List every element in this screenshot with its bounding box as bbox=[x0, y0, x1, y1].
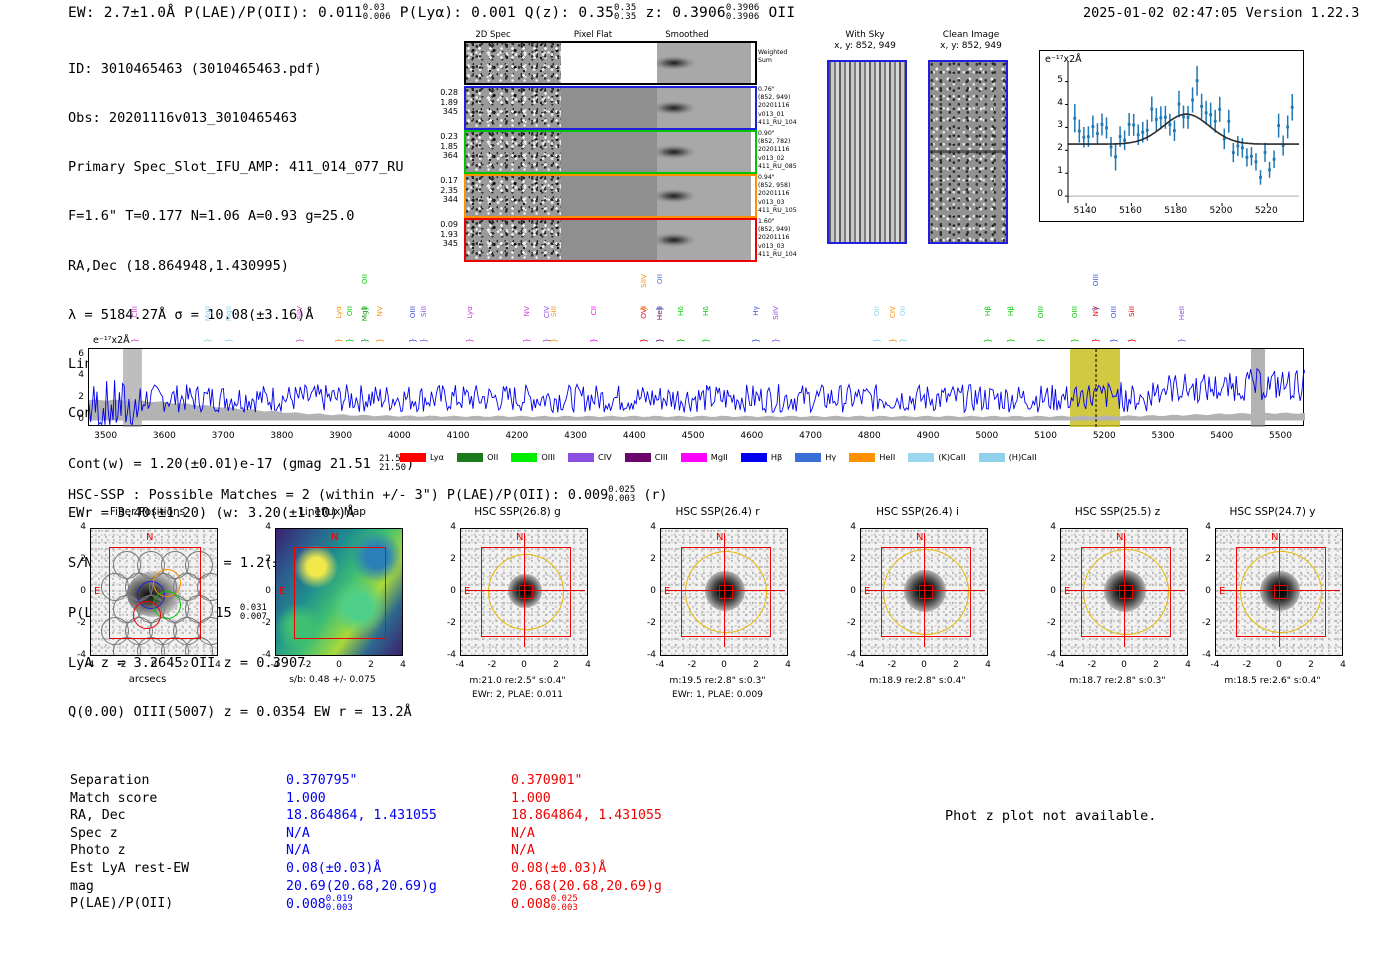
legend-swatch bbox=[457, 453, 483, 462]
spectrum-line-bracket: } bbox=[345, 338, 354, 343]
imaging-xtick: 0 bbox=[142, 660, 166, 670]
table-row: Separation bbox=[70, 772, 189, 790]
match-table-labels: Separation Match score RA, Dec Spec z Ph… bbox=[70, 772, 189, 913]
spectrum-line-label: MgII bbox=[203, 306, 212, 321]
legend-label: Hγ bbox=[825, 452, 836, 462]
compass-east: E bbox=[94, 586, 100, 597]
spectrum-line-bracket: } bbox=[224, 338, 233, 343]
imaging-xtick: 0 bbox=[912, 660, 936, 670]
sp-xtick: 3700 bbox=[201, 431, 245, 441]
legend-label: (H)CaII bbox=[1009, 452, 1037, 462]
lp-ytick: 5 bbox=[1049, 75, 1063, 85]
spectrum-line-bracket: } bbox=[639, 306, 648, 311]
imaging-xtick: -4 bbox=[78, 660, 102, 670]
sp-xtick: 4500 bbox=[671, 431, 715, 441]
fiber2-2dspec-image bbox=[466, 132, 561, 172]
hsc-header: HSC-SSP : Possible Matches = 2 (within +… bbox=[68, 486, 668, 504]
imaging-panel-axes bbox=[1060, 528, 1188, 656]
spectrum-line-bracket: } bbox=[360, 338, 369, 343]
crosshair-vertical bbox=[724, 533, 725, 647]
line-profile-chart: e⁻¹⁷x2Å bbox=[1039, 50, 1304, 222]
lp-ytick: 2 bbox=[1049, 143, 1063, 153]
spectrum-line-label: SiII bbox=[549, 306, 558, 317]
imaging-caption-1: m:18.5 re:2.6" s:0.4" bbox=[1185, 675, 1360, 686]
spectrum-line-bracket: } bbox=[465, 338, 474, 343]
imaging-xtick: -2 bbox=[480, 660, 504, 670]
imaging-panel-0: Fiber PositionsNE-4-2024420-2-4arcsecs bbox=[60, 506, 235, 706]
hsc-header-tail: (r) bbox=[643, 488, 667, 503]
aperture-box bbox=[109, 547, 201, 639]
spec2d-fiber-strip-2 bbox=[464, 130, 757, 174]
fiber1-left-labels: 0.281.89345 bbox=[418, 88, 458, 117]
spectrum-line-bracket: } bbox=[872, 338, 881, 343]
target-marker-box bbox=[919, 585, 933, 599]
spectrum-line-bracket: } bbox=[375, 338, 384, 343]
imaging-ytick: -4 bbox=[1193, 650, 1211, 660]
spec2d-panel: 2D Spec Pixel Flat Smoothed WeightedSum … bbox=[420, 30, 760, 245]
imaging-ytick: -4 bbox=[68, 650, 86, 660]
spectrum-legend-item: MgII bbox=[681, 452, 728, 462]
full-spectrum-chart: e⁻¹⁷x2Å bbox=[88, 348, 1304, 426]
imaging-xtick: 4 bbox=[1331, 660, 1355, 670]
compass-east: E bbox=[664, 586, 670, 597]
imaging-xtick: -2 bbox=[1235, 660, 1259, 670]
imaging-xtick: 0 bbox=[1267, 660, 1291, 670]
sp-ytick: 0 bbox=[72, 414, 84, 424]
compass-north: N bbox=[331, 532, 338, 543]
spectrum-line-label: Hγ bbox=[751, 306, 760, 316]
sp-ytick: 4 bbox=[72, 370, 84, 380]
imaging-panel-title: HSC SSP(26.8) g bbox=[430, 506, 605, 518]
imaging-ytick: -2 bbox=[838, 618, 856, 628]
spectrum-line-bracket: } bbox=[1177, 338, 1186, 343]
imaging-xtick: 2 bbox=[1299, 660, 1323, 670]
imaging-panel-2: HSC SSP(26.8) gNE-4-2024420-2-4m:21.0 re… bbox=[430, 506, 605, 706]
compass-north: N bbox=[1271, 532, 1278, 543]
imaging-xtick: 4 bbox=[206, 660, 230, 670]
fiber3-smoothed-image bbox=[657, 176, 751, 216]
spectrum-legend-item: Lyα bbox=[400, 452, 444, 462]
spectrum-line-label: Lyα bbox=[465, 306, 474, 319]
spectrum-line-bracket: } bbox=[1006, 338, 1015, 343]
imaging-xtick: 2 bbox=[174, 660, 198, 670]
weighted-pixelflat-image bbox=[561, 43, 657, 83]
imaging-ytick: 2 bbox=[253, 554, 271, 564]
spectrum-legend-item: (H)CaII bbox=[979, 452, 1037, 462]
compass-north: N bbox=[1116, 532, 1123, 543]
spec2d-fiber-strip-4 bbox=[464, 218, 757, 262]
spectrum-line-label: OII bbox=[655, 274, 664, 284]
imaging-ytick: -4 bbox=[638, 650, 656, 660]
sp-ytick: 2 bbox=[72, 392, 84, 402]
table-row: 0.0080.0250.003 bbox=[511, 895, 662, 914]
spectrum-line-label: SiII bbox=[419, 306, 428, 317]
imaging-caption-1: m:18.7 re:2.8" s:0.3" bbox=[1030, 675, 1205, 686]
sp-xtick: 5400 bbox=[1200, 431, 1244, 441]
spectrum-line-label: SiIV bbox=[771, 306, 780, 320]
fiber4-pixelflat-image bbox=[561, 220, 657, 260]
table-row: P(LAE)/P(OII) bbox=[70, 895, 189, 913]
crosshair-vertical bbox=[1124, 533, 1125, 647]
imaging-xtick: 2 bbox=[944, 660, 968, 670]
imaging-panel-3: HSC SSP(26.4) rNE-4-2024420-2-4m:19.5 re… bbox=[630, 506, 805, 706]
imaging-panel-title: Fiber Positions bbox=[60, 506, 235, 518]
weighted-smoothed-image bbox=[657, 43, 751, 83]
spectrum-line-label: HeII bbox=[1177, 306, 1186, 320]
spectrum-legend-item: OIII bbox=[511, 452, 555, 462]
fiber3-2dspec-image bbox=[466, 176, 561, 216]
imaging-ytick: 0 bbox=[638, 586, 656, 596]
col2-plae-frac: 0.0250.003 bbox=[551, 895, 578, 913]
imaging-xtick: -4 bbox=[263, 660, 287, 670]
lp-ytick: 0 bbox=[1049, 189, 1063, 199]
clean-image-title: Clean Image x, y: 852, 949 bbox=[925, 30, 1017, 52]
spectrum-line-label: Hδ bbox=[676, 306, 685, 316]
legend-swatch bbox=[511, 453, 537, 462]
header-qz-frac: 0.350.35 bbox=[614, 4, 636, 22]
lp-ytick: 3 bbox=[1049, 120, 1063, 130]
sp-xtick: 4400 bbox=[612, 431, 656, 441]
fiber3-left-labels: 0.172.35344 bbox=[418, 176, 458, 205]
spec2d-col-title-smoothed: Smoothed bbox=[642, 30, 732, 40]
fiber2-smoothed-image bbox=[657, 132, 751, 172]
imaging-panel-6: HSC SSP(24.7) yNE-4-2024420-2-4m:18.5 re… bbox=[1185, 506, 1360, 706]
info-line-slot: Primary Spec_Slot_IFU_AMP: 411_014_077_R… bbox=[68, 159, 414, 175]
table-row: Est LyA rest-EW bbox=[70, 860, 189, 878]
fiber4-meta: 1.60"(852, 949)20201116v013_03411_RU_104 bbox=[758, 218, 797, 259]
spec2d-fiber-strip-3 bbox=[464, 174, 757, 218]
spectrum-line-label: CII bbox=[589, 306, 598, 315]
table-row: 0.08(±0.03)Å bbox=[286, 860, 437, 878]
sp-xtick: 3800 bbox=[260, 431, 304, 441]
legend-label: MgII bbox=[711, 452, 728, 462]
imaging-ytick: 2 bbox=[1038, 554, 1056, 564]
fiber4-left-labels: 0.091.93345 bbox=[418, 220, 458, 249]
imaging-ytick: 4 bbox=[253, 522, 271, 532]
header-summary-text: EW: 2.7±1.0Å P(LAE)/P(OII): 0.011 bbox=[68, 5, 363, 21]
spectrum-legend-item: OII bbox=[457, 452, 498, 462]
imaging-ytick: 0 bbox=[1193, 586, 1211, 596]
legend-label: HeII bbox=[879, 452, 895, 462]
fiber2-meta: 0.90"(852, 782)20201116v013_02411_RU_085 bbox=[758, 130, 797, 171]
compass-north: N bbox=[146, 532, 153, 543]
legend-label: CIII bbox=[655, 452, 668, 462]
crosshair-vertical bbox=[524, 533, 525, 647]
with-sky-image bbox=[827, 60, 907, 244]
sp-xtick: 4000 bbox=[377, 431, 421, 441]
spectrum-line-label: Hβ bbox=[1006, 306, 1015, 316]
spectrum-line-label: OIII bbox=[408, 306, 417, 318]
imaging-panel-1: Lineflux MapNE-4-2024420-2-4s/b: 0.48 +/… bbox=[245, 506, 420, 706]
imaging-ytick: 4 bbox=[68, 522, 86, 532]
match-table-col1: 0.370795" 1.000 18.864864, 1.431055 N/A … bbox=[286, 772, 437, 914]
legend-swatch bbox=[625, 453, 651, 462]
spectrum-line-label: SiII bbox=[1127, 306, 1136, 317]
spectrum-line-bracket: } bbox=[701, 338, 710, 343]
compass-east: E bbox=[464, 586, 470, 597]
table-row: 0.370795" bbox=[286, 772, 437, 790]
imaging-ytick: 2 bbox=[638, 554, 656, 564]
spectrum-line-label: MgII bbox=[224, 306, 233, 321]
imaging-panel-4: HSC SSP(26.4) iNE-4-2024420-2-4m:18.9 re… bbox=[830, 506, 1005, 706]
header-summary-mid: P(Lyα): 0.001 Q(z): 0.35 bbox=[400, 5, 614, 21]
fiber1-2dspec-image bbox=[466, 88, 561, 128]
spectrum-line-bracket: } bbox=[1127, 338, 1136, 343]
timestamp-text: 2025-01-02 02:47:05 bbox=[1083, 5, 1237, 21]
imaging-panel-axes bbox=[460, 528, 588, 656]
table-row: 18.864864, 1.431055 bbox=[286, 807, 437, 825]
spectrum-legend-item: CIII bbox=[625, 452, 668, 462]
table-row: N/A bbox=[511, 842, 662, 860]
spectrum-legend-item: (K)CaII bbox=[908, 452, 965, 462]
imaging-ytick: -2 bbox=[438, 618, 456, 628]
imaging-xtick: -4 bbox=[848, 660, 872, 670]
spectrum-line-bracket: } bbox=[1091, 338, 1100, 343]
spectrum-line-label: Hδ bbox=[701, 306, 710, 316]
imaging-panel-title: HSC SSP(26.4) r bbox=[630, 506, 805, 518]
header-plae-frac: 0.030.006 bbox=[363, 4, 391, 22]
sp-xtick: 5000 bbox=[965, 431, 1009, 441]
spectrum-line-label: OIII bbox=[1036, 306, 1045, 318]
imaging-xtick: 4 bbox=[576, 660, 600, 670]
legend-label: OIII bbox=[541, 452, 555, 462]
spec2d-col-title-pixelflat: Pixel Flat bbox=[548, 30, 638, 40]
imaging-ytick: 0 bbox=[838, 586, 856, 596]
info-line-id: ID: 3010465463 (3010465463.pdf) bbox=[68, 61, 414, 77]
spectrum-legend-item: CIV bbox=[568, 452, 612, 462]
clean-image-image bbox=[928, 60, 1008, 244]
table-row: 20.68(20.68,20.69)g bbox=[511, 878, 662, 896]
imaging-caption-1: m:21.0 re:2.5" s:0.4" bbox=[430, 675, 605, 686]
imaging-ytick: 0 bbox=[253, 586, 271, 596]
legend-swatch bbox=[400, 453, 426, 462]
imaging-caption-1: m:19.5 re:2.8" s:0.3" bbox=[630, 675, 805, 686]
imaging-panel-title: HSC SSP(25.5) z bbox=[1030, 506, 1205, 518]
spectrum-line-bracket: } bbox=[655, 338, 664, 343]
spectrum-line-bracket: } bbox=[408, 338, 417, 343]
spectrum-line-label: OII bbox=[345, 306, 354, 316]
with-sky-title-text: With Sky bbox=[845, 30, 884, 40]
match-table-col2: 0.370901" 1.000 18.864864, 1.431055 N/A … bbox=[511, 772, 662, 914]
sp-xtick: 4200 bbox=[495, 431, 539, 441]
imaging-panel-title: HSC SSP(26.4) i bbox=[830, 506, 1005, 518]
legend-label: (K)CaII bbox=[938, 452, 965, 462]
table-row: mag bbox=[70, 878, 189, 896]
table-row: 1.000 bbox=[511, 790, 662, 808]
table-row: 0.08(±0.03)Å bbox=[511, 860, 662, 878]
table-row: 1.000 bbox=[286, 790, 437, 808]
imaging-xtick: -2 bbox=[110, 660, 134, 670]
hsc-plae-frac: 0.0250.003 bbox=[608, 486, 635, 504]
info-line-oiii: Q(0.00) OIII(5007) z = 0.0354 EW r = 13.… bbox=[68, 704, 414, 720]
table-row: N/A bbox=[286, 825, 437, 843]
table-row: 20.69(20.68,20.69)g bbox=[286, 878, 437, 896]
weighted-sum-label: WeightedSum bbox=[758, 49, 787, 65]
imaging-xlabel: arcsecs bbox=[60, 674, 235, 685]
spectrum-line-bracket: } bbox=[1109, 338, 1118, 343]
imaging-xtick: 2 bbox=[744, 660, 768, 670]
fiber2-left-labels: 0.231.85364 bbox=[418, 132, 458, 161]
compass-east: E bbox=[279, 586, 285, 597]
col1-plae-frac: 0.0190.003 bbox=[326, 895, 353, 913]
imaging-ytick: -2 bbox=[68, 618, 86, 628]
imaging-panel-axes bbox=[1215, 528, 1343, 656]
imaging-ytick: -4 bbox=[838, 650, 856, 660]
imaging-ytick: -4 bbox=[253, 650, 271, 660]
compass-east: E bbox=[864, 586, 870, 597]
info-line-contw: Cont(w) = 1.20(±0.01)e-17 (gmag 21.51 21… bbox=[68, 455, 414, 473]
lp-xtick: 5200 bbox=[1205, 206, 1237, 216]
imaging-ytick: 2 bbox=[1193, 554, 1211, 564]
legend-swatch bbox=[681, 453, 707, 462]
imaging-caption-2: EWr: 2, PLAE: 0.011 bbox=[430, 689, 605, 700]
imaging-ytick: 4 bbox=[838, 522, 856, 532]
spectrum-line-label: NV bbox=[1091, 306, 1100, 316]
imaging-caption-1: m:18.9 re:2.8" s:0.4" bbox=[830, 675, 1005, 686]
lp-ytick: 4 bbox=[1049, 98, 1063, 108]
table-row: 0.0080.0190.003 bbox=[286, 895, 437, 914]
imaging-ytick: -4 bbox=[438, 650, 456, 660]
imaging-xtick: -4 bbox=[1203, 660, 1227, 670]
spectrum-line-bracket: } bbox=[751, 338, 760, 343]
fiber1-smoothed-image bbox=[657, 88, 751, 128]
spectrum-legend-item: Hγ bbox=[795, 452, 836, 462]
spectrum-line-bracket: } bbox=[983, 338, 992, 343]
imaging-ytick: 2 bbox=[68, 554, 86, 564]
header-timestamp-version: 2025-01-02 02:47:05 Version 1.22.3 bbox=[1083, 5, 1359, 21]
imaging-ytick: 0 bbox=[438, 586, 456, 596]
compass-north: N bbox=[916, 532, 923, 543]
table-row: RA, Dec bbox=[70, 807, 189, 825]
imaging-ytick: 4 bbox=[1193, 522, 1211, 532]
imaging-panel-axes bbox=[860, 528, 988, 656]
imaging-xtick: -4 bbox=[648, 660, 672, 670]
spectrum-line-label: SiIV bbox=[295, 306, 304, 320]
info-line-obs: Obs: 20201116v013_3010465463 bbox=[68, 110, 414, 126]
clean-image-coords: x, y: 852, 949 bbox=[940, 41, 1002, 51]
target-marker-box bbox=[1274, 585, 1288, 599]
line-profile-svg bbox=[1040, 51, 1305, 223]
spectrum-line-bracket: } bbox=[1036, 338, 1045, 343]
photoz-message: Phot z plot not available. bbox=[945, 808, 1156, 824]
imaging-caption-2: EWr: 1, PLAE: 0.009 bbox=[630, 689, 805, 700]
aperture-box bbox=[294, 547, 386, 639]
spectrum-legend-item: HeII bbox=[849, 452, 895, 462]
imaging-xtick: 0 bbox=[327, 660, 351, 670]
spectrum-line-label: CIV bbox=[888, 306, 897, 318]
spectrum-svg bbox=[89, 349, 1305, 427]
info-line-params: F=1.6" T=0.177 N=1.06 A=0.93 g=25.0 bbox=[68, 208, 414, 224]
table-row: N/A bbox=[286, 842, 437, 860]
spectrum-line-bracket: } bbox=[549, 338, 558, 343]
spectrum-line-bracket: } bbox=[419, 338, 428, 343]
spectrum-line-label: OIII bbox=[1091, 274, 1100, 286]
fiber3-meta: 0.94"(852, 958)20201116v013_03411_RU_105 bbox=[758, 174, 797, 215]
imaging-xtick: 0 bbox=[1112, 660, 1136, 670]
spectrum-line-label: OII bbox=[360, 274, 369, 284]
imaging-xtick: 0 bbox=[712, 660, 736, 670]
table-row: Match score bbox=[70, 790, 189, 808]
table-row: Spec z bbox=[70, 825, 189, 843]
imaging-xtick: 4 bbox=[976, 660, 1000, 670]
compass-east: E bbox=[1064, 586, 1070, 597]
sp-xtick: 5200 bbox=[1082, 431, 1126, 441]
sp-xtick: 4300 bbox=[554, 431, 598, 441]
imaging-ytick: 0 bbox=[68, 586, 86, 596]
with-sky-title: With Sky x, y: 852, 949 bbox=[822, 30, 908, 52]
spectrum-line-bracket: } bbox=[888, 338, 897, 343]
sp-xtick: 5100 bbox=[1024, 431, 1068, 441]
legend-label: CIV bbox=[598, 452, 612, 462]
spec2d-weighted-sum-strip bbox=[464, 41, 757, 85]
spectrum-line-bracket: } bbox=[639, 338, 648, 343]
compass-north: N bbox=[516, 532, 523, 543]
compass-north: N bbox=[716, 532, 723, 543]
table-row: 18.864864, 1.431055 bbox=[511, 807, 662, 825]
sp-xtick: 4700 bbox=[789, 431, 833, 441]
spectrum-line-label: CIII bbox=[130, 306, 139, 318]
lp-xtick: 5140 bbox=[1069, 206, 1101, 216]
legend-swatch bbox=[795, 453, 821, 462]
imaging-ytick: 2 bbox=[838, 554, 856, 564]
table-row: Photo z bbox=[70, 842, 189, 860]
sp-xtick: 3600 bbox=[142, 431, 186, 441]
imaging-xtick: -4 bbox=[1048, 660, 1072, 670]
sp-xtick: 4800 bbox=[847, 431, 891, 441]
table-row: N/A bbox=[511, 825, 662, 843]
target-marker-box bbox=[1119, 585, 1133, 599]
spectrum-line-bracket: } bbox=[295, 338, 304, 343]
sp-xtick: 5500 bbox=[1259, 431, 1303, 441]
imaging-ytick: 2 bbox=[438, 554, 456, 564]
spectrum-legend-item: Hβ bbox=[741, 452, 782, 462]
spec2d-fiber-strip-1 bbox=[464, 86, 757, 130]
crosshair-vertical bbox=[1279, 533, 1280, 647]
spectrum-line-bracket: } bbox=[676, 338, 685, 343]
spectrum-line-bracket: } bbox=[130, 338, 139, 343]
legend-label: Lyα bbox=[430, 452, 444, 462]
legend-swatch bbox=[908, 453, 934, 462]
spectrum-line-bracket: } bbox=[898, 338, 907, 343]
clean-image-title-text: Clean Image bbox=[943, 30, 1000, 40]
header-summary-z: z: 0.3906 bbox=[645, 5, 725, 21]
legend-swatch bbox=[849, 453, 875, 462]
imaging-xtick: -2 bbox=[680, 660, 704, 670]
spectrum-line-label: OII bbox=[872, 306, 881, 316]
legend-swatch bbox=[741, 453, 767, 462]
version-text: Version 1.22.3 bbox=[1246, 5, 1360, 21]
fiber4-2dspec-image bbox=[466, 220, 561, 260]
legend-swatch bbox=[568, 453, 594, 462]
spectrum-line-label: Lyα bbox=[334, 306, 343, 319]
imaging-ytick: -2 bbox=[253, 618, 271, 628]
legend-swatch bbox=[979, 453, 1005, 462]
fiber2-pixelflat-image bbox=[561, 132, 657, 172]
spectrum-line-label: OII bbox=[898, 306, 907, 316]
spectrum-line-label: Hβ bbox=[983, 306, 992, 316]
hsc-header-text: HSC-SSP : Possible Matches = 2 (within +… bbox=[68, 488, 608, 503]
fiber4-smoothed-image bbox=[657, 220, 751, 260]
imaging-xtick: 4 bbox=[776, 660, 800, 670]
lp-xtick: 5180 bbox=[1160, 206, 1192, 216]
legend-label: Hβ bbox=[771, 452, 782, 462]
header-summary-tail: OII bbox=[769, 5, 796, 21]
with-sky-coords: x, y: 852, 949 bbox=[834, 41, 896, 51]
imaging-xtick: -2 bbox=[295, 660, 319, 670]
spectrum-line-bracket: } bbox=[334, 338, 343, 343]
spectrum-line-bracket: } bbox=[522, 338, 531, 343]
spectrum-line-bracket: } bbox=[655, 306, 664, 311]
